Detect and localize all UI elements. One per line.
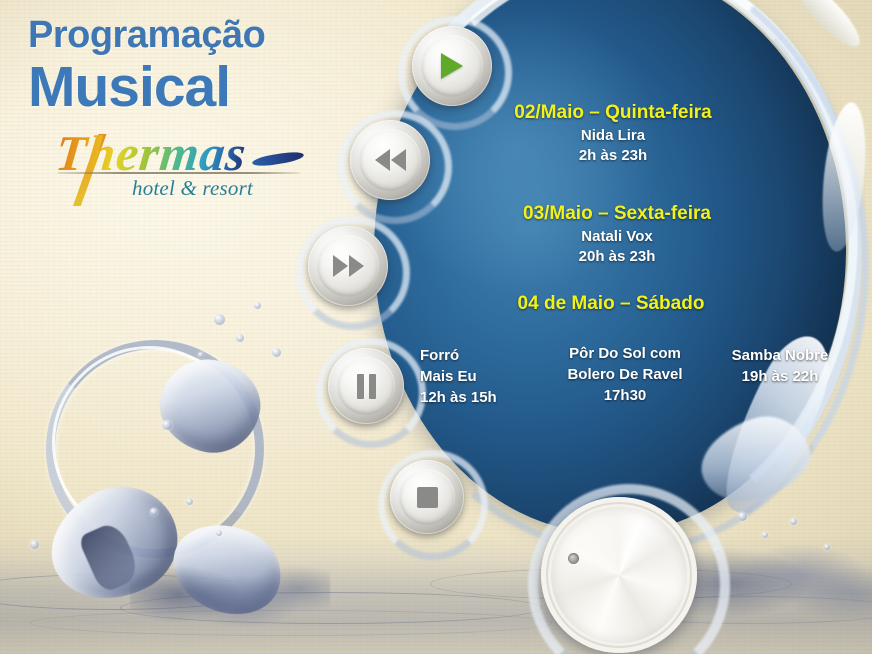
pause-button[interactable] bbox=[328, 348, 404, 424]
event-date: 03/Maio – Sexta-feira bbox=[447, 203, 787, 225]
stop-button[interactable] bbox=[390, 460, 464, 534]
droplet bbox=[762, 532, 768, 538]
event-thursday: 02/Maio – Quinta-feira Nida Lira 2h às 2… bbox=[443, 102, 783, 164]
act-time: 12h às 15h bbox=[420, 387, 497, 408]
event-time: 20h às 23h bbox=[447, 248, 787, 265]
volume-knob[interactable] bbox=[541, 497, 697, 653]
droplet bbox=[714, 548, 719, 553]
event-date: 02/Maio – Quinta-feira bbox=[443, 102, 783, 124]
play-button[interactable] bbox=[412, 26, 492, 106]
saturday-lineup: Forró Mais Eu 12h às 15h Pôr Do Sol com … bbox=[410, 340, 860, 410]
saturday-act-3: Samba Nobre 19h às 22h bbox=[705, 345, 855, 387]
droplet bbox=[790, 518, 797, 525]
event-time: 2h às 23h bbox=[443, 147, 783, 164]
act-name-line-2: Bolero De Ravel bbox=[545, 364, 705, 385]
event-friday: 03/Maio – Sexta-feira Natali Vox 20h às … bbox=[447, 203, 787, 265]
rewind-button[interactable] bbox=[350, 120, 430, 200]
thermas-logo: Thermas hotel & resort bbox=[56, 128, 306, 200]
play-icon bbox=[441, 53, 463, 79]
logo-underline bbox=[58, 172, 300, 174]
title-line-2: Musical bbox=[28, 58, 358, 116]
stop-icon bbox=[417, 487, 438, 508]
logo-tagline: hotel & resort bbox=[132, 176, 253, 201]
fast-forward-button[interactable] bbox=[308, 226, 388, 306]
pause-icon bbox=[357, 374, 376, 399]
act-time: 19h às 22h bbox=[705, 366, 855, 387]
saturday-act-1: Forró Mais Eu 12h às 15h bbox=[420, 345, 497, 408]
musical-program-poster: Programação Musical Thermas hotel & reso… bbox=[0, 0, 872, 654]
act-name-line-1: Forró bbox=[420, 345, 497, 366]
title-line-1: Programação bbox=[28, 14, 358, 56]
poster-title: Programação Musical bbox=[28, 14, 358, 116]
act-name-line-2: Mais Eu bbox=[420, 366, 497, 387]
act-name-line-1: Pôr Do Sol com bbox=[545, 343, 705, 364]
event-artist: Nida Lira bbox=[443, 127, 783, 144]
rewind-icon bbox=[375, 149, 406, 171]
event-artist: Natali Vox bbox=[447, 228, 787, 245]
fast-forward-icon bbox=[333, 255, 364, 277]
act-name-line-1: Samba Nobre bbox=[705, 345, 855, 366]
volume-knob-indicator bbox=[568, 553, 579, 564]
logo-tail-stroke bbox=[252, 150, 305, 168]
event-date: 04 de Maio – Sábado bbox=[441, 293, 781, 315]
saturday-act-2: Pôr Do Sol com Bolero De Ravel 17h30 bbox=[545, 343, 705, 406]
water-headphones-graphic bbox=[10, 330, 310, 620]
event-saturday: 04 de Maio – Sábado bbox=[441, 293, 781, 315]
droplet bbox=[738, 512, 747, 521]
droplet bbox=[824, 544, 830, 550]
act-time: 17h30 bbox=[545, 385, 705, 406]
